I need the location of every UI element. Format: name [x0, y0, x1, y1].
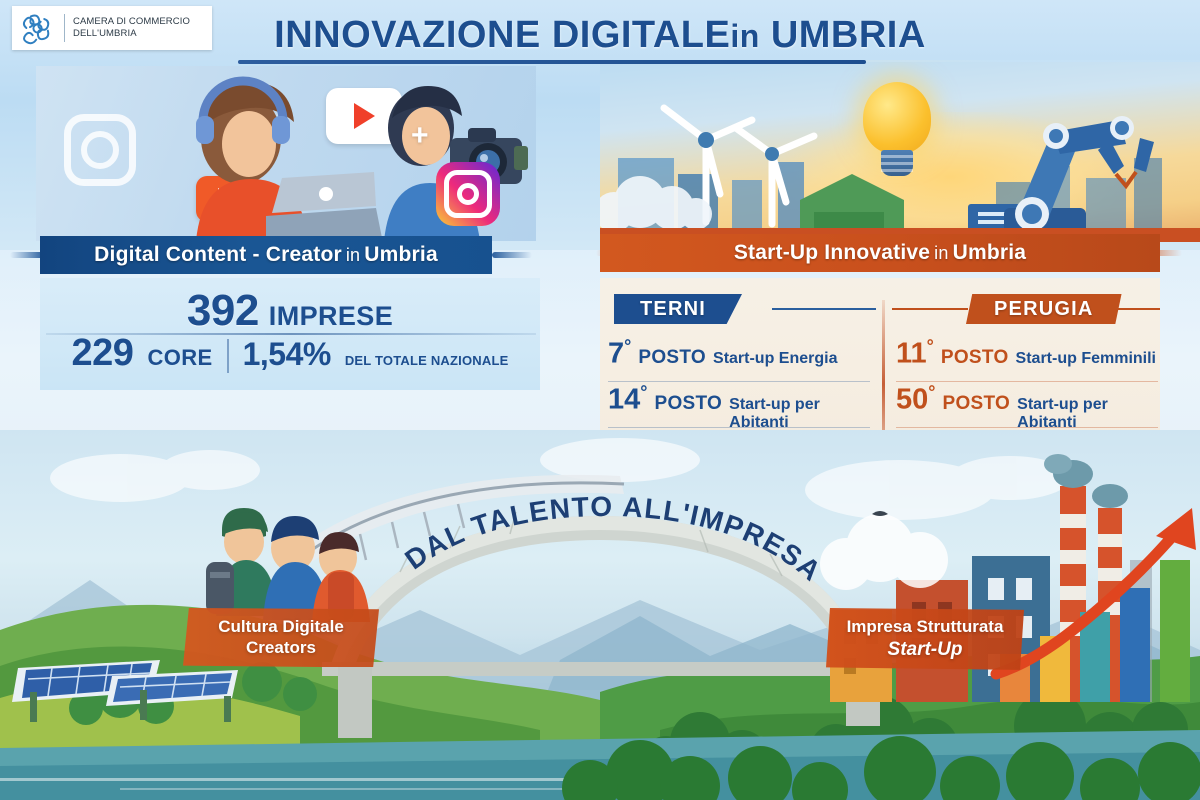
banner-right-connector: in [930, 243, 952, 264]
rank-description: Start-up Femminili [1016, 350, 1156, 368]
impresa-strutturata-tag: Impresa Strutturata Start-Up [826, 608, 1024, 670]
banner-left-deco-end [492, 252, 532, 258]
tag-right-line-2: Start-Up [844, 638, 1006, 661]
core-percent-stat-row: 229 CORE 1,54% DEL TOTALE NAZIONALE [54, 332, 526, 380]
banner-right-part-1: Start-Up Innovative [734, 241, 930, 265]
imprese-label: IMPRESE [269, 301, 393, 332]
rank-posto-label: POSTO [654, 393, 722, 415]
imprese-value: 392 [187, 286, 259, 336]
city-badge-terni: TERNI [614, 294, 742, 324]
rank-posto-label: POSTO [941, 347, 1009, 369]
perugia-badge-line-right [1118, 308, 1160, 310]
stats-horizontal-divider [46, 333, 536, 335]
plus-sign: + [411, 119, 429, 153]
rank-description: Start-up Energia [713, 350, 837, 368]
imprese-stat-row: 392 IMPRESE [54, 286, 526, 332]
digital-creators-banner: Digital Content - CreatorinUmbria [40, 236, 492, 274]
digital-creators-illustration: + [36, 66, 536, 241]
terni-badge-line [772, 308, 876, 310]
rank-description: Start-up per Abitanti [1017, 396, 1158, 432]
instagram-icon [436, 162, 500, 226]
startup-banner: Start-Up InnovativeinUmbria [600, 234, 1160, 272]
tag-right-line-1: Impresa Strutturata [844, 617, 1006, 638]
rank-row: 7° POSTO Start-up Energia [608, 336, 870, 382]
cultura-digitale-tag: Cultura Digitale Creators [183, 608, 379, 667]
rank-number: 14° [608, 382, 647, 417]
rank-number: 50° [896, 382, 935, 417]
city-badge-perugia: PERUGIA [966, 294, 1122, 324]
percent-label: DEL TOTALE NAZIONALE [345, 353, 509, 368]
rank-row: 14° POSTO Start-up per Abitanti [608, 382, 870, 428]
core-value: 229 [72, 332, 134, 375]
perugia-badge-line-left [892, 308, 968, 310]
banner-left-connector: in [342, 245, 364, 266]
banner-left-part-2: Umbria [364, 243, 438, 267]
page-title: INNOVAZIONE DIGITALEin UMBRIA [0, 14, 1200, 57]
rank-number: 7° [608, 336, 631, 371]
rank-number: 11° [896, 336, 934, 371]
tag-left-line-2: Creators [201, 638, 361, 659]
core-label: CORE [147, 345, 212, 371]
rank-posto-label: POSTO [942, 393, 1010, 415]
stat-divider [227, 339, 229, 373]
percent-value: 1,54% [243, 336, 331, 373]
tag-left-line-1: Cultura Digitale [201, 617, 361, 638]
banner-left-part-1: Digital Content - Creator [94, 243, 342, 267]
lightbulb-icon [855, 82, 939, 182]
title-connector: in [730, 18, 759, 54]
rank-row: 50° POSTO Start-up per Abitanti [896, 382, 1158, 428]
title-underline [238, 60, 866, 64]
title-part-1: INNOVAZIONE DIGITALE [274, 14, 730, 56]
infographic-poster: + [0, 0, 1200, 800]
rank-description: Start-up per Abitanti [729, 396, 870, 432]
rank-posto-label: POSTO [638, 347, 706, 369]
title-part-2: UMBRIA [771, 14, 926, 56]
startup-innovation-illustration [600, 62, 1200, 242]
banner-right-part-2: Umbria [953, 241, 1027, 265]
banner-left-deco-start [10, 252, 44, 258]
rank-row: 11° POSTO Start-up Femminili [896, 336, 1158, 382]
